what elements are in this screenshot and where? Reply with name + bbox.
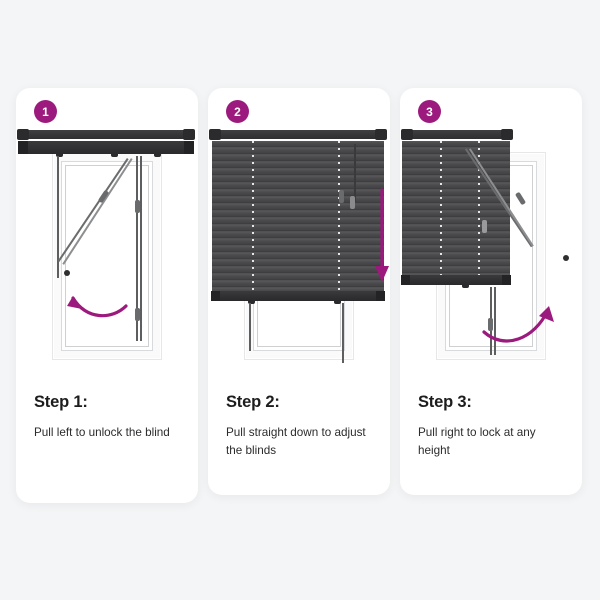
direction-arrow-left xyxy=(16,130,198,388)
steps-board: 1 xyxy=(0,0,600,600)
step-title-2: Step 2: xyxy=(226,393,376,412)
step-caption-2: Step 2: Pull straight down to adjust the… xyxy=(226,393,376,459)
step-card-1: 1 xyxy=(16,88,198,503)
step-illustration-3 xyxy=(400,130,582,388)
direction-arrow-down xyxy=(208,130,390,388)
step-number-badge-2: 2 xyxy=(226,100,249,123)
step-body-3: Pull right to lock at any height xyxy=(418,424,568,459)
step-number-badge-1: 1 xyxy=(34,100,57,123)
step-body-2: Pull straight down to adjust the blinds xyxy=(226,424,376,459)
step-illustration-1 xyxy=(16,130,198,388)
step-caption-3: Step 3: Pull right to lock at any height xyxy=(418,393,568,459)
step-illustration-2 xyxy=(208,130,390,388)
step-title-1: Step 1: xyxy=(34,393,184,412)
step-body-1: Pull left to unlock the blind xyxy=(34,424,184,442)
step-card-2: 2 xyxy=(208,88,390,495)
direction-arrow-right xyxy=(400,130,582,388)
step-caption-1: Step 1: Pull left to unlock the blind xyxy=(34,393,184,442)
step-title-3: Step 3: xyxy=(418,393,568,412)
step-card-3: 3 xyxy=(400,88,582,495)
step-number-badge-3: 3 xyxy=(418,100,441,123)
